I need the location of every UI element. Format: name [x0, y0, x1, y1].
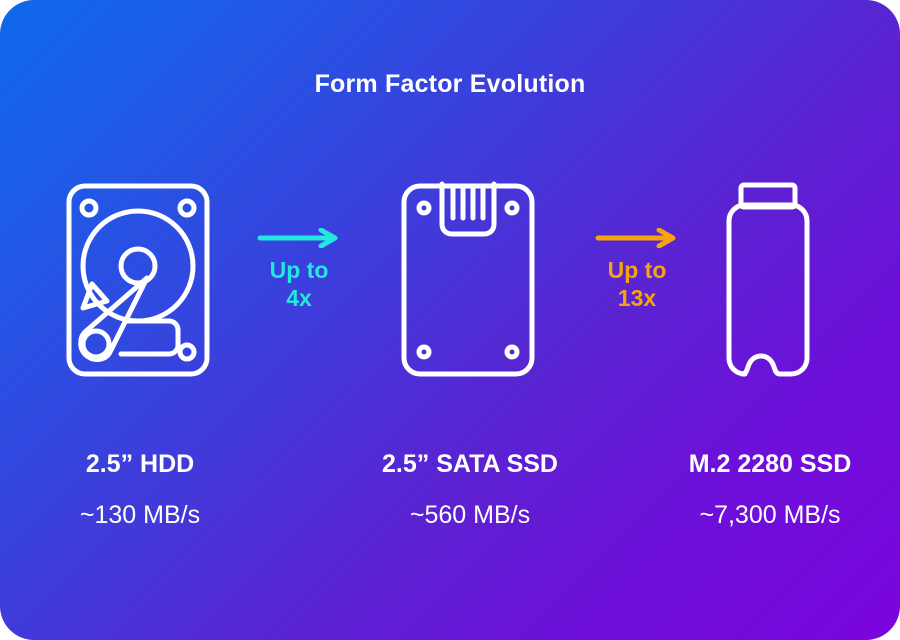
speed-arrow-2-line2: 13x	[608, 284, 667, 312]
device-evolution-row: Up to 4x	[0, 170, 900, 390]
device-label-sata-ssd: 2.5” SATA SSD ~560 MB/s	[350, 450, 590, 530]
device-icon-hdd	[30, 170, 245, 390]
speed-arrow-1-line2: 4x	[270, 284, 329, 312]
m2-2280-ssd-icon	[723, 180, 813, 380]
page-title: Form Factor Evolution	[0, 70, 900, 99]
device-label-hdd: 2.5” HDD ~130 MB/s	[20, 450, 260, 530]
speed-arrow-1-line1: Up to	[270, 257, 329, 283]
device-speed-hdd: ~130 MB/s	[20, 501, 260, 530]
speed-arrow-1: Up to 4x	[224, 228, 374, 312]
device-label-row: 2.5” HDD ~130 MB/s 2.5” SATA SSD ~560 MB…	[0, 450, 900, 570]
device-speed-m2-ssd: ~7,300 MB/s	[650, 501, 890, 530]
device-icon-sata-ssd	[360, 170, 575, 390]
speed-arrow-2-label: Up to 13x	[608, 256, 667, 312]
device-label-m2-ssd: M.2 2280 SSD ~7,300 MB/s	[650, 450, 890, 530]
speed-arrow-1-label: Up to 4x	[270, 256, 329, 312]
device-name-m2-ssd: M.2 2280 SSD	[650, 450, 890, 479]
sata-ssd-icon	[398, 180, 538, 380]
infographic-card: Form Factor Evolution	[0, 0, 900, 640]
device-icon-m2-ssd	[660, 170, 875, 390]
device-name-sata-ssd: 2.5” SATA SSD	[350, 450, 590, 479]
device-name-hdd: 2.5” HDD	[20, 450, 260, 479]
speed-arrow-2-line1: Up to	[608, 257, 667, 283]
arrow-right-icon	[257, 228, 341, 248]
hard-disk-drive-icon	[63, 180, 213, 380]
device-speed-sata-ssd: ~560 MB/s	[350, 501, 590, 530]
